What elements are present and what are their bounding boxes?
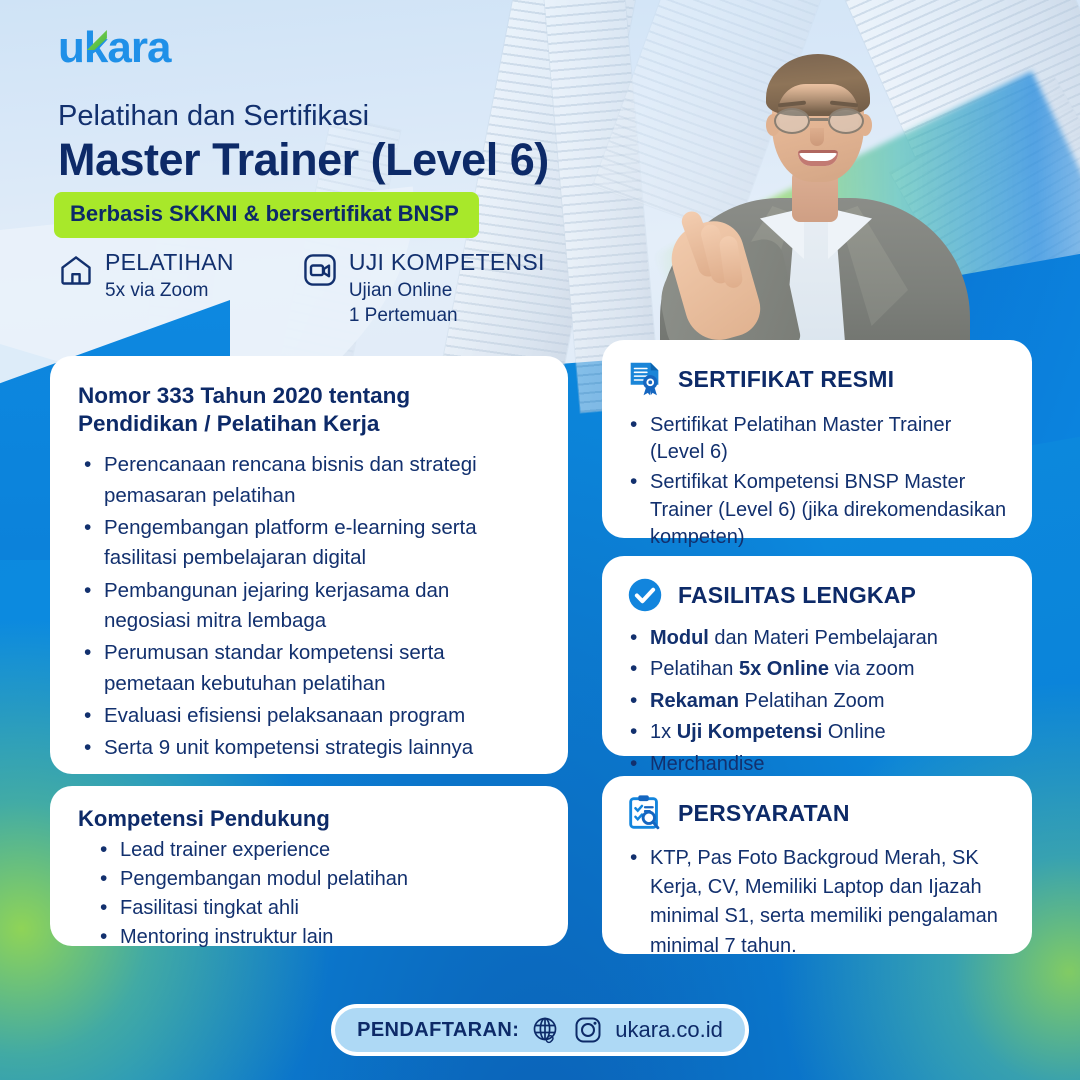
item-post: Online bbox=[822, 721, 885, 743]
item-rest: dan Materi Pembelajaran bbox=[709, 627, 938, 649]
item-rest: Pelatihan Zoom bbox=[739, 690, 885, 712]
header-meta-row: PELATIHAN 5x via Zoom UJI KOMPETENSI Uji… bbox=[58, 250, 545, 328]
meta-item-pelatihan: PELATIHAN 5x via Zoom bbox=[58, 250, 234, 328]
facilities-card-title: FASILITAS LENGKAP bbox=[678, 582, 916, 609]
meta-heading: PELATIHAN bbox=[105, 250, 234, 274]
brand-logo: ukara bbox=[58, 26, 170, 70]
list-item: Sertifikat Pelatihan Master Trainer (Lev… bbox=[624, 412, 1008, 466]
regulation-card-title: Nomor 333 Tahun 2020 tentang Pendidikan … bbox=[78, 382, 540, 438]
meta-subtext: 5x via Zoom bbox=[105, 278, 234, 303]
list-item: Pengembangan platform e-learning serta f… bbox=[78, 513, 540, 574]
meta-item-uji-kompetensi: UJI KOMPETENSI Ujian Online 1 Pertemuan bbox=[302, 250, 545, 328]
list-item: Lead trainer experience bbox=[78, 836, 540, 865]
regulation-list: Perencanaan rencana bisnis dan strategi … bbox=[78, 450, 540, 763]
list-item: KTP, Pas Foto Backgroud Merah, SK Kerja,… bbox=[624, 844, 1008, 961]
list-item: Rekaman Pelatihan Zoom bbox=[624, 687, 1008, 715]
list-item: Pelatihan 5x Online via zoom bbox=[624, 655, 1008, 683]
facilities-list: Modul dan Materi Pembelajaran Pelatihan … bbox=[624, 624, 1008, 778]
regulation-card: Nomor 333 Tahun 2020 tentang Pendidikan … bbox=[50, 356, 568, 774]
supporting-card-title: Kompetensi Pendukung bbox=[78, 806, 540, 832]
item-pre: Pelatihan bbox=[650, 658, 739, 680]
home-icon bbox=[58, 252, 94, 288]
list-item: Perencanaan rencana bisnis dan strategi … bbox=[78, 450, 540, 511]
item-bold: Rekaman bbox=[650, 690, 739, 712]
item-bold: Uji Kompetensi bbox=[677, 721, 823, 743]
facilities-card: FASILITAS LENGKAP Modul dan Materi Pembe… bbox=[602, 556, 1032, 756]
item-post: via zoom bbox=[829, 658, 915, 680]
list-item: Pembangunan jejaring kerjasama dan negos… bbox=[78, 576, 540, 637]
certificate-list: Sertifikat Pelatihan Master Trainer (Lev… bbox=[624, 412, 1008, 551]
requirements-card-title: PERSYARATAN bbox=[678, 800, 850, 827]
header-subtitle: Pelatihan dan Sertifikasi bbox=[58, 100, 369, 133]
requirements-card: PERSYARATAN KTP, Pas Foto Backgroud Mera… bbox=[602, 776, 1032, 954]
list-item: Sertifikat Kompetensi BNSP Master Traine… bbox=[624, 469, 1008, 551]
certificate-card-title: SERTIFIKAT RESMI bbox=[678, 366, 894, 393]
list-item: Evaluasi efisiensi pelaksanaan program bbox=[78, 701, 540, 731]
requirements-list: KTP, Pas Foto Backgroud Merah, SK Kerja,… bbox=[624, 844, 1008, 961]
meta-subtext-line2: 1 Pertemuan bbox=[349, 303, 545, 328]
registration-label: PENDAFTARAN: bbox=[357, 1019, 519, 1042]
requirements-card-header: PERSYARATAN bbox=[624, 792, 1008, 834]
meta-subtext: Ujian Online 1 Pertemuan bbox=[349, 278, 545, 328]
certification-badge: Berbasis SKKNI & bersertifikat BNSP bbox=[54, 192, 479, 238]
video-camera-icon bbox=[302, 252, 338, 288]
list-item: Perumusan standar kompetensi serta pemet… bbox=[78, 638, 540, 699]
list-item: Merchandise bbox=[624, 750, 1008, 778]
globe-link-icon[interactable] bbox=[531, 1015, 561, 1045]
certificate-card: SERTIFIKAT RESMI Sertifikat Pelatihan Ma… bbox=[602, 340, 1032, 538]
list-item: Fasilitasi tingkat ahli bbox=[78, 894, 540, 923]
certificate-icon bbox=[624, 358, 666, 400]
regulation-title-line2: Pendidikan / Pelatihan Kerja bbox=[78, 410, 540, 438]
list-item: Mentoring instruktur lain bbox=[78, 923, 540, 952]
clipboard-search-icon bbox=[624, 792, 666, 834]
list-item: 1x Uji Kompetensi Online bbox=[624, 718, 1008, 746]
check-circle-icon bbox=[624, 574, 666, 616]
certificate-card-header: SERTIFIKAT RESMI bbox=[624, 358, 1008, 400]
page-title: Master Trainer (Level 6) bbox=[58, 134, 549, 186]
item-pre: 1x bbox=[650, 721, 677, 743]
meta-heading: UJI KOMPETENSI bbox=[349, 250, 545, 274]
list-item: Modul dan Materi Pembelajaran bbox=[624, 624, 1008, 652]
supporting-list: Lead trainer experience Pengembangan mod… bbox=[78, 836, 540, 952]
item-bold: Modul bbox=[650, 627, 709, 649]
meta-subtext-line1: Ujian Online bbox=[349, 278, 545, 303]
item-bold: 5x Online bbox=[739, 658, 829, 680]
facilities-card-header: FASILITAS LENGKAP bbox=[624, 574, 1008, 616]
list-item: Pengembangan modul pelatihan bbox=[78, 865, 540, 894]
registration-url[interactable]: ukara.co.id bbox=[615, 1017, 723, 1043]
instagram-icon[interactable] bbox=[573, 1015, 603, 1045]
logo-text-rest: ara bbox=[107, 23, 170, 72]
list-item: Serta 9 unit kompetensi strategis lainny… bbox=[78, 733, 540, 763]
registration-bar[interactable]: PENDAFTARAN: ukara.co.id bbox=[331, 1004, 749, 1056]
regulation-title-line1: Nomor 333 Tahun 2020 tentang bbox=[78, 382, 540, 410]
item-rest: Merchandise bbox=[650, 753, 765, 775]
supporting-competency-card: Kompetensi Pendukung Lead trainer experi… bbox=[50, 786, 568, 946]
